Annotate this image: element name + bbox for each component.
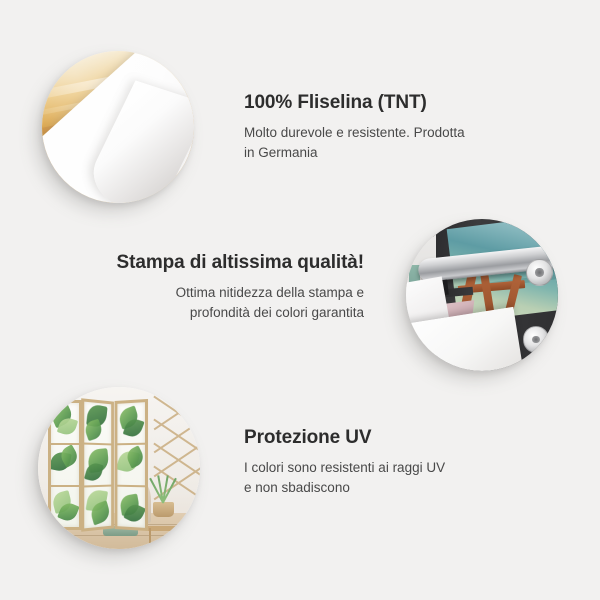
tropical-room-illustration [38,387,200,549]
divider-panel [48,400,82,530]
feature-body-line: Molto durevole e resistente. Prodotta [244,125,465,140]
feature-heading-stampa-qualita: Stampa di altissima qualità! [60,252,364,274]
divider-cell [51,403,79,445]
wheel-hub [532,336,540,344]
feature-text-stampa-qualita: Stampa di altissima qualità! Ottima niti… [60,252,364,323]
divider-panel [81,398,114,531]
divider-cell [51,445,79,487]
feature-image-protezione-uv [38,387,200,549]
leaf-icon [84,461,104,482]
printing-press-illustration [406,219,558,371]
divider-panel [115,399,149,531]
plant-pot [153,502,174,517]
feature-body-stampa-qualita: Ottima nitidezza della stampa e profondi… [60,283,364,323]
surface-gloss [42,51,194,203]
divider-cell [117,486,145,527]
feature-body-protezione-uv: I colori sono resistenti ai raggi UV e n… [244,458,544,498]
divider-cell [117,445,145,487]
press-wheel [523,326,549,352]
divider-cell [117,402,145,445]
feature-image-fliselina [42,51,194,203]
feature-collage: 100% Fliselina (TNT) Molto durevole e re… [0,0,600,600]
feature-image-stampa-qualita [406,219,558,371]
feature-body-line: in Germania [244,145,318,160]
table-leg [175,528,177,543]
table-leg [149,528,151,543]
feature-body-line: Ottima nitidezza della stampa e [176,285,364,300]
feature-body-line: e non sbadiscono [244,480,350,495]
divider-cell [84,402,111,446]
feature-text-fliselina: 100% Fliselina (TNT) Molto durevole e re… [244,92,544,163]
feature-text-protezione-uv: Protezione UV I colori sono resistenti a… [244,427,544,498]
wallpaper-peel-illustration [42,51,194,203]
divider-cell [51,487,79,527]
feature-body-line: profondità dei colori garantita [190,305,364,320]
feature-body-fliselina: Molto durevole e resistente. Prodotta in… [244,123,544,163]
feature-body-line: I colori sono resistenti ai raggi UV [244,460,445,475]
divider-cell [84,486,111,528]
wheel-hub [535,268,543,276]
tropical-room-divider [48,400,148,530]
feature-heading-protezione-uv: Protezione UV [244,427,544,449]
feature-heading-fliselina: 100% Fliselina (TNT) [244,92,544,114]
divider-cell [84,444,111,487]
